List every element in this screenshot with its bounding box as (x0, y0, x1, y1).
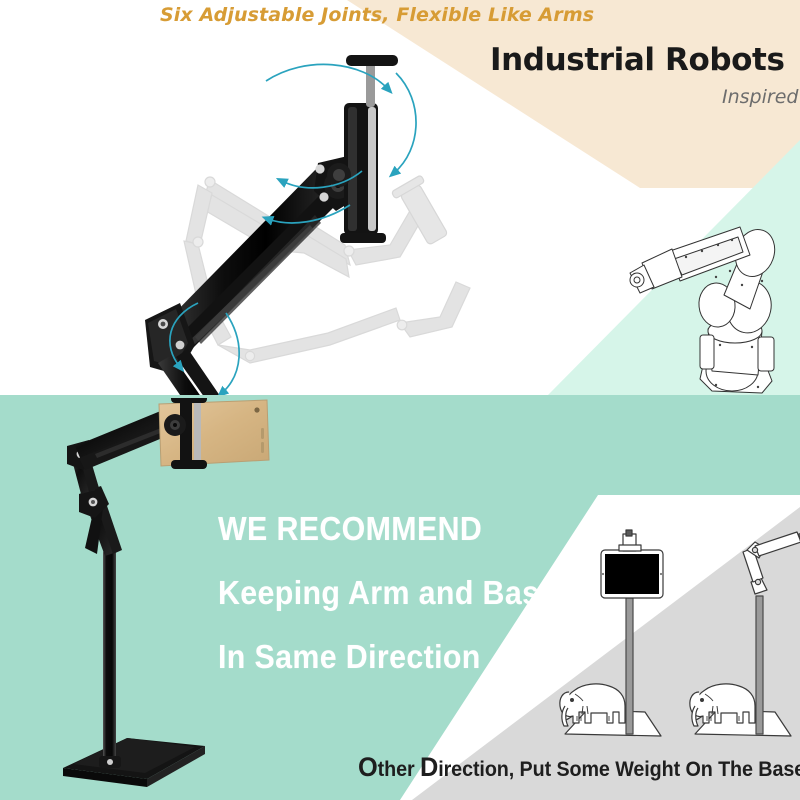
articulated-arm-illustration (100, 45, 480, 395)
footnote-cap-o: O (358, 752, 378, 782)
footnote-rest: irection, Put Some Weight On The Base (438, 758, 800, 781)
recommend-line-1: WE RECOMMEND (218, 512, 557, 545)
footnote-text: Other Direction, Put Some Weight On The … (358, 752, 800, 783)
ghost-arm-alternate-position (184, 175, 470, 363)
subheadline-text: Inspired (722, 86, 798, 108)
tagline-text: Six Adjustable Joints, Flexible Like Arm… (160, 4, 594, 26)
recommend-line-2: Keeping Arm and Base (218, 576, 557, 609)
headline-text: Industrial Robots (490, 42, 785, 78)
footnote-ther: ther (378, 758, 420, 781)
main-black-arm (145, 155, 362, 395)
recommendation-text-block: WE RECOMMEND Keeping Arm and Base In Sam… (218, 512, 586, 704)
tablet-clamp-holder (327, 55, 398, 243)
footnote-cap-d: D (420, 752, 438, 782)
recommend-line-3: In Same Direction (218, 640, 557, 673)
infographic-canvas: Six Adjustable Joints, Flexible Like Arm… (0, 0, 800, 800)
rotation-arrow-group (161, 64, 416, 395)
